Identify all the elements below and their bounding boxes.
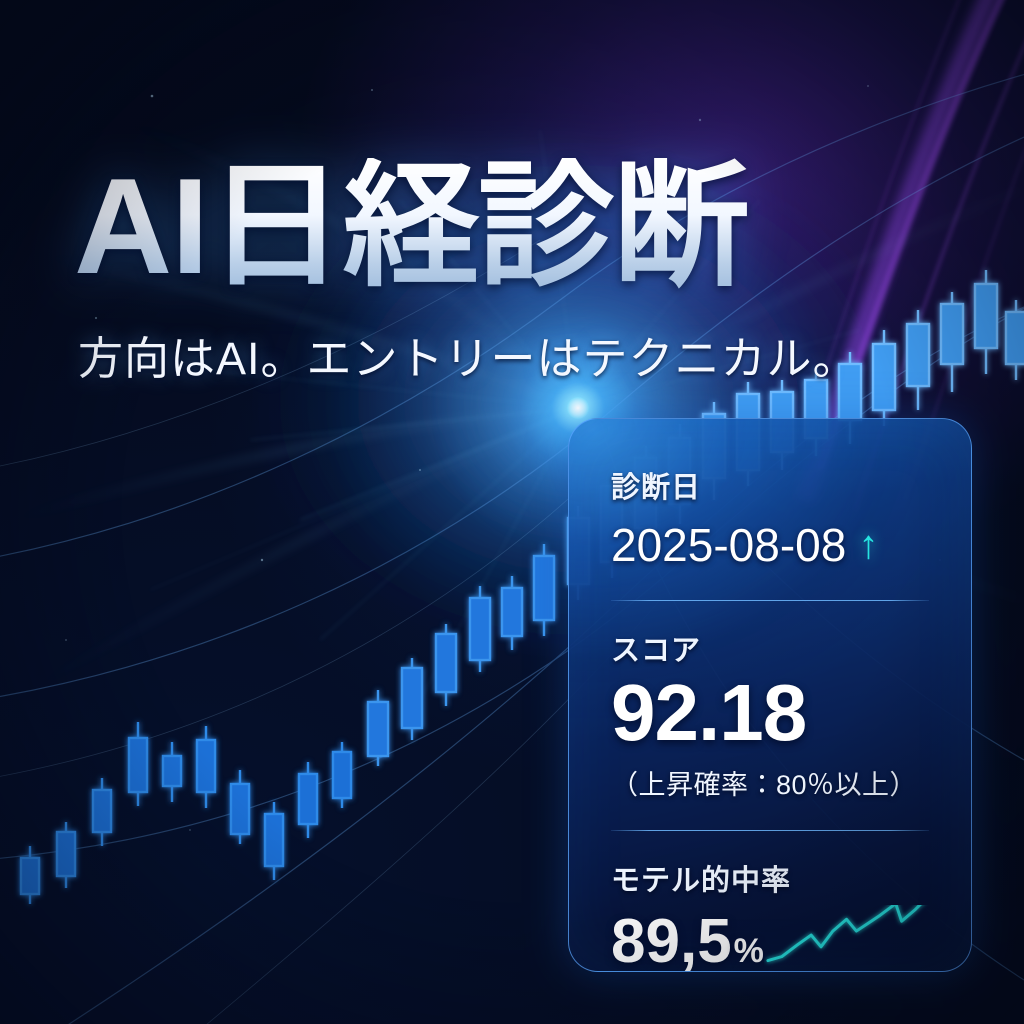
- poster-canvas: AI日経診断 方向はAI。エントリーはテクニカル。 診断日 2025-08-08…: [0, 0, 1024, 1024]
- vignette-overlay: [0, 0, 1024, 1024]
